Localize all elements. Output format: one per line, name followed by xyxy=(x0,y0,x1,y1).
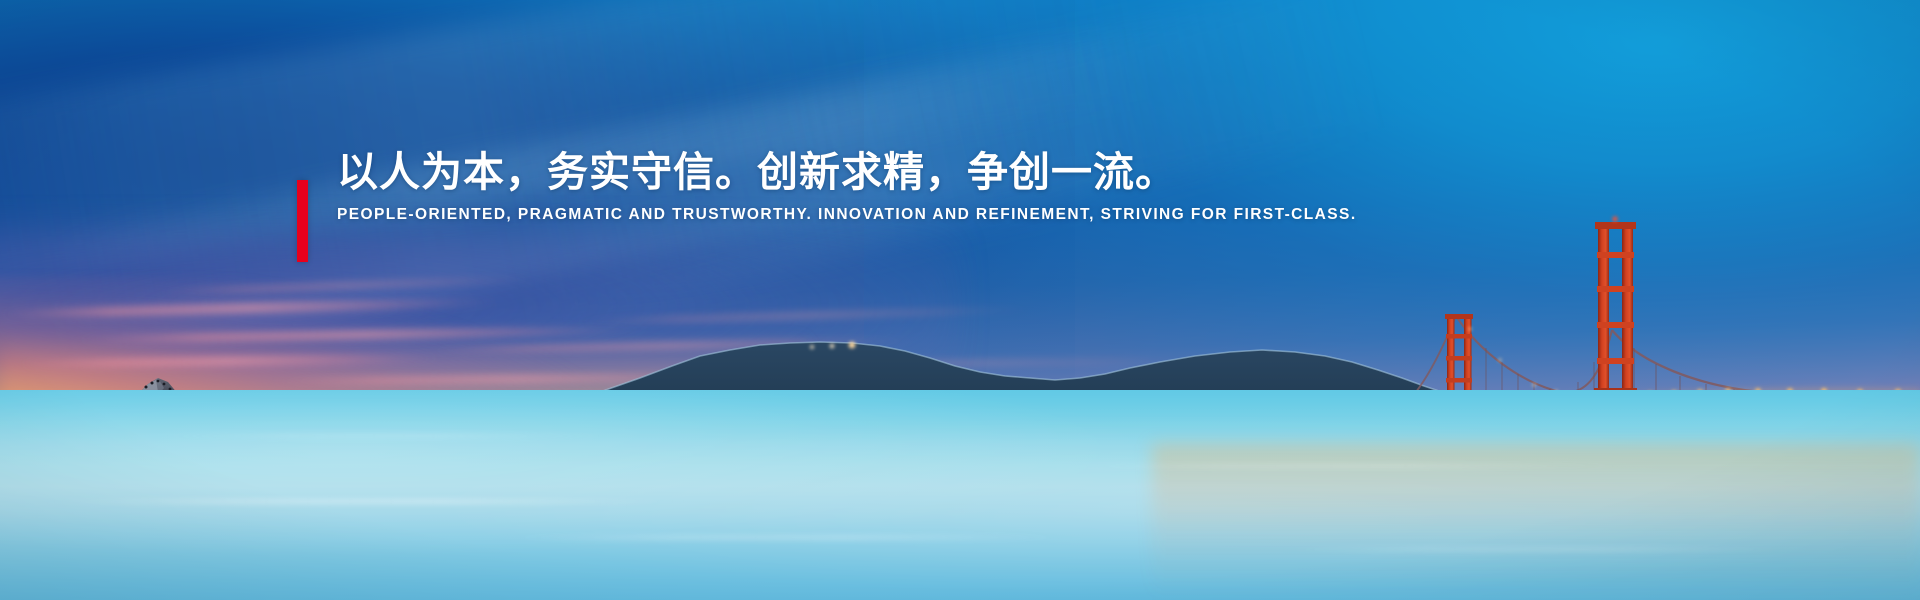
water-streak-icon xyxy=(1056,464,1632,468)
water-streak-icon xyxy=(38,499,691,504)
water-streak-icon xyxy=(1267,547,1805,552)
banner-headline: 以人为本，务实守信。创新求精，争创一流。 xyxy=(297,148,1397,196)
water-streak-icon xyxy=(499,535,1075,540)
banner-text-block: 以人为本，务实守信。创新求精，争创一流。 PEOPLE-ORIENTED, PR… xyxy=(297,148,1397,225)
red-accent-bar xyxy=(297,180,308,262)
water-streak-icon xyxy=(154,434,615,438)
banner-subheadline: PEOPLE-ORIENTED, PRAGMATIC AND TRUSTWORT… xyxy=(297,205,1397,224)
hero-banner: 以人为本，务实守信。创新求精，争创一流。 PEOPLE-ORIENTED, PR… xyxy=(0,0,1920,600)
